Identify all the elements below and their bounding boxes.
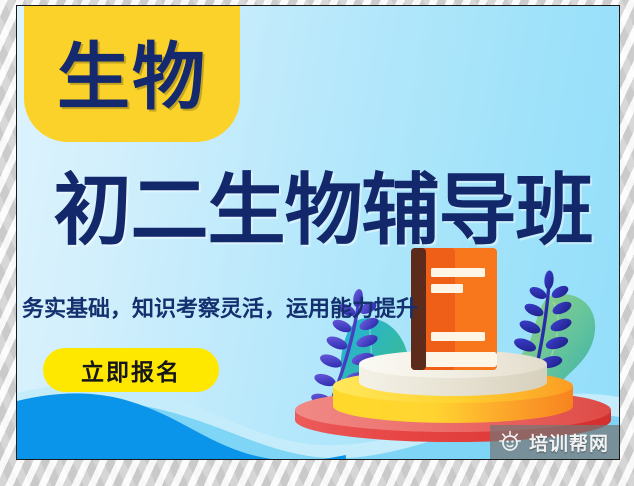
subtitle: 务实基础，知识考察灵活，运用能力提升 xyxy=(22,291,418,323)
subject-badge-label: 生物 xyxy=(57,41,207,114)
book-podium-illustration xyxy=(285,242,620,442)
enroll-now-button-label: 立即报名 xyxy=(81,353,181,387)
page-background: 生物 xyxy=(0,0,634,486)
book-icon xyxy=(411,248,497,370)
sun-face-icon xyxy=(498,430,522,454)
page-title: 初二生物辅导班 xyxy=(25,172,620,250)
site-watermark-label: 培训帮网 xyxy=(529,429,609,456)
site-watermark: 培训帮网 xyxy=(490,425,619,459)
course-promo-banner: 生物 xyxy=(16,5,620,460)
enroll-now-button[interactable]: 立即报名 xyxy=(43,348,219,392)
subject-badge: 生物 xyxy=(24,6,240,142)
